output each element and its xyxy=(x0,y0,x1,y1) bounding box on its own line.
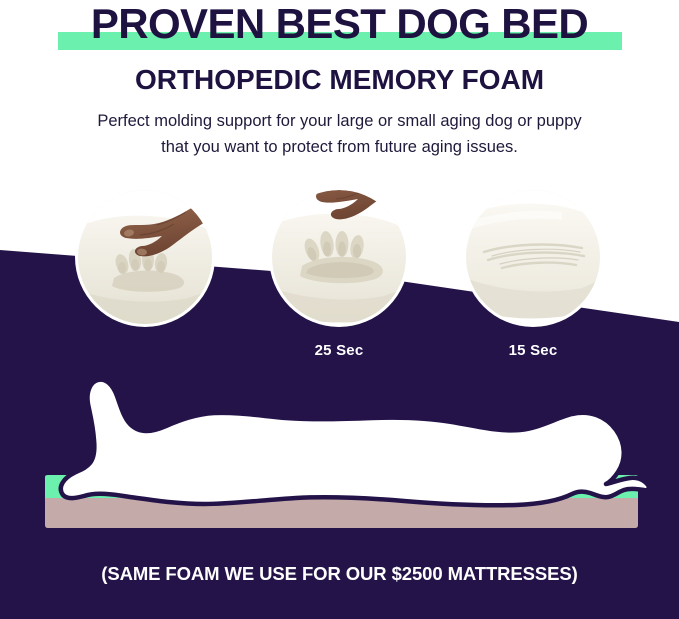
product-infographic: PROVEN BEST DOG BED ORTHOPEDIC MEMORY FO… xyxy=(0,0,679,619)
dog-on-mattress-illustration xyxy=(0,370,679,540)
foam-demo-circle-25sec xyxy=(272,190,406,324)
foam-demo-circle-press xyxy=(78,190,212,324)
header: PROVEN BEST DOG BED ORTHOPEDIC MEMORY FO… xyxy=(0,0,679,160)
foam-caption-25sec: 25 Sec xyxy=(272,342,406,359)
white-dog-silhouette xyxy=(61,380,649,506)
hand-pressing-foam-icon xyxy=(78,190,212,324)
foam-caption-15sec: 15 Sec xyxy=(466,342,600,359)
foam-recovered-icon xyxy=(466,190,600,324)
foam-handprint-icon xyxy=(272,190,406,324)
foam-demo-circles xyxy=(0,190,679,326)
page-subtitle: ORTHOPEDIC MEMORY FOAM xyxy=(0,64,679,96)
page-title: PROVEN BEST DOG BED xyxy=(0,0,679,46)
title-wrapper: PROVEN BEST DOG BED xyxy=(0,0,679,52)
lede-paragraph: Perfect molding support for your large o… xyxy=(90,108,590,160)
foam-demo-circle-15sec xyxy=(466,190,600,324)
footer-note: (SAME FOAM WE USE FOR OUR $2500 MATTRESS… xyxy=(0,563,679,585)
